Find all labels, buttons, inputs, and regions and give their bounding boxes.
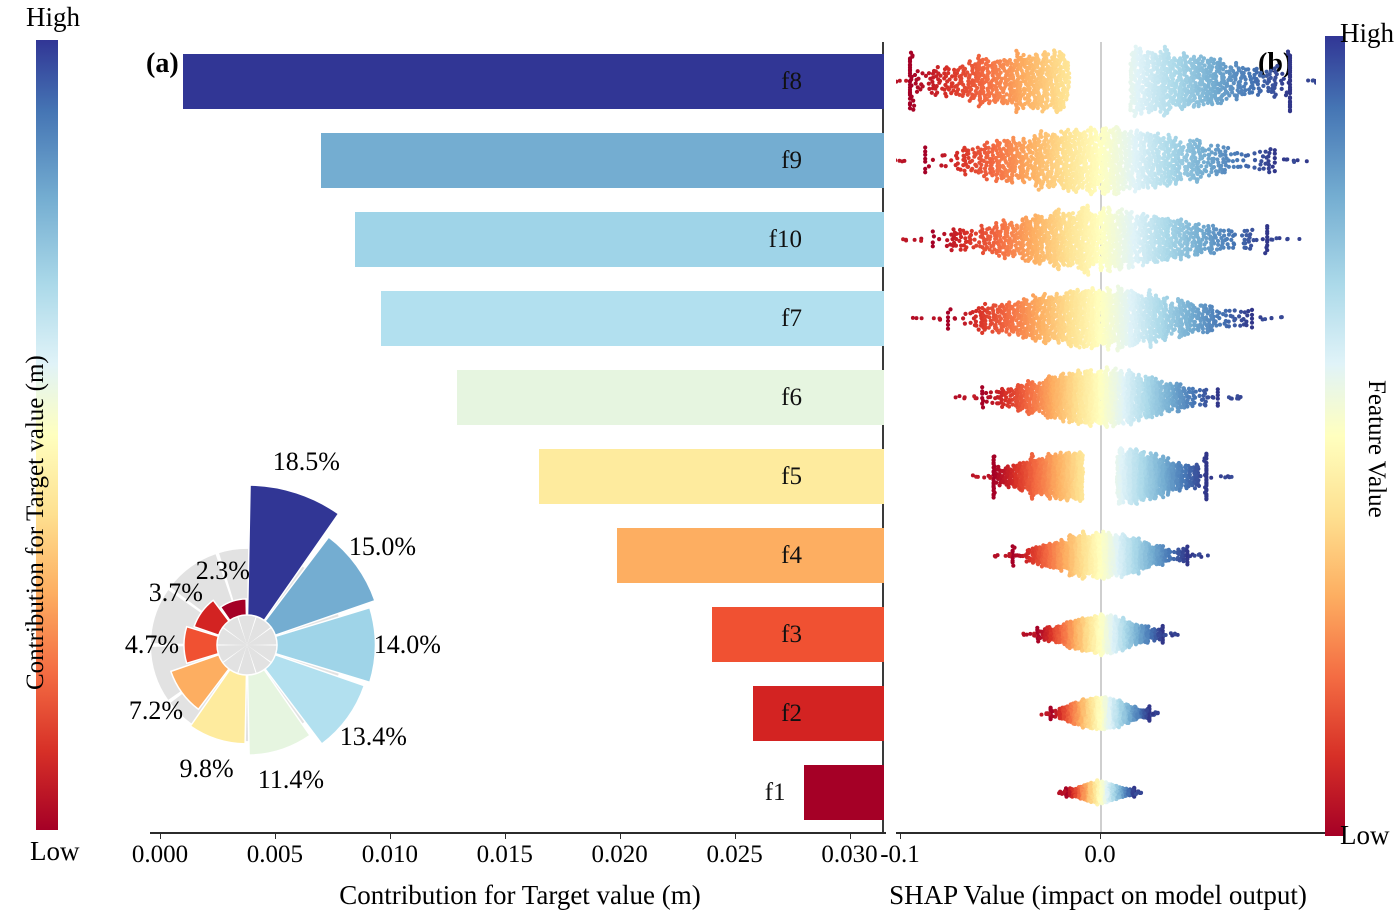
beeswarm-point	[1011, 254, 1015, 258]
beeswarm-point	[1244, 233, 1248, 237]
beeswarm-point	[933, 87, 937, 91]
beeswarm-point	[1180, 252, 1184, 256]
beeswarm-point	[1091, 190, 1095, 194]
beeswarm-point	[1272, 95, 1276, 99]
beeswarm-point	[997, 254, 1001, 258]
beeswarm-point	[1006, 78, 1010, 82]
bar-f9[interactable]: f9	[321, 133, 884, 188]
beeswarm-point	[1081, 186, 1085, 190]
beeswarm-point	[968, 241, 972, 245]
beeswarm-point	[1265, 156, 1269, 160]
beeswarm-point	[1128, 186, 1132, 190]
beeswarm-point	[985, 227, 989, 231]
beeswarm-row-f10[interactable]	[896, 200, 1316, 279]
beeswarm-point	[1266, 89, 1270, 93]
beeswarm-point	[959, 235, 963, 239]
left-colorbar-axis-title: Contribution for Target value (m)	[22, 355, 50, 690]
beeswarm-point	[1127, 266, 1131, 270]
beeswarm-point	[1028, 150, 1032, 154]
beeswarm-point	[1280, 72, 1284, 76]
beeswarm-point	[1207, 153, 1211, 157]
beeswarm-svg-f8	[896, 42, 1316, 121]
bar-f6[interactable]: f6	[457, 370, 885, 425]
beeswarm-point	[1018, 251, 1022, 255]
beeswarm-point	[963, 312, 967, 316]
beeswarm-point	[1261, 237, 1265, 241]
panel-a-tick-2	[620, 832, 621, 839]
beeswarm-point	[1210, 102, 1214, 106]
beeswarm-point	[1265, 81, 1269, 85]
beeswarm-point	[1252, 166, 1256, 170]
beeswarm-point	[911, 108, 915, 112]
beeswarm-outlier-point	[897, 159, 901, 163]
rose-label-f2: 3.7%	[149, 578, 203, 608]
bar-f8[interactable]: f8	[183, 54, 884, 109]
bar-f1[interactable]: f1	[804, 765, 884, 820]
beeswarm-point	[916, 69, 920, 73]
beeswarm-point	[1162, 113, 1166, 117]
beeswarm-point	[1169, 306, 1173, 310]
beeswarm-point	[1250, 313, 1254, 317]
rose-label-f3: 4.7%	[125, 630, 179, 660]
bar-label-f10: f10	[769, 226, 884, 254]
beeswarm-point	[1096, 182, 1100, 186]
beeswarm-point	[957, 239, 961, 243]
beeswarm-point	[1131, 265, 1135, 269]
beeswarm-point	[993, 61, 997, 65]
beeswarm-point	[1246, 153, 1250, 157]
bar-f7[interactable]: f7	[381, 291, 884, 346]
beeswarm-point	[1255, 70, 1259, 74]
beeswarm-point	[982, 241, 986, 245]
beeswarm-point	[1202, 242, 1206, 246]
panel-a-x-axis-title: Contribution for Target value (m)	[339, 880, 701, 911]
beeswarm-point	[1016, 176, 1020, 180]
beeswarm-outlier-point	[1275, 236, 1279, 240]
beeswarm-outlier-point	[1292, 160, 1296, 164]
beeswarm-point	[1139, 112, 1143, 116]
beeswarm-point	[981, 251, 985, 255]
beeswarm-point	[949, 158, 953, 162]
bar-label-f7: f7	[781, 305, 884, 333]
beeswarm-row-f7[interactable]	[896, 279, 1316, 358]
beeswarm-point	[931, 244, 935, 248]
beeswarm-point	[930, 91, 934, 95]
beeswarm-point	[1033, 261, 1037, 265]
beeswarm-point	[1203, 247, 1207, 251]
beeswarm-point	[966, 93, 970, 97]
beeswarm-point	[1245, 229, 1249, 233]
beeswarm-point	[1233, 233, 1237, 237]
figure-canvas: High Low Contribution for Target value (…	[0, 0, 1400, 919]
beeswarm-point	[1090, 151, 1094, 155]
rose-label-f8: 18.5%	[273, 447, 340, 477]
beeswarm-point	[979, 163, 983, 167]
beeswarm-point	[1059, 259, 1063, 263]
beeswarm-point	[927, 82, 931, 86]
beeswarm-point	[1179, 161, 1183, 165]
beeswarm-point	[1261, 84, 1265, 88]
beeswarm-point	[931, 240, 935, 244]
beeswarm-point	[987, 101, 991, 105]
beeswarm-point	[1187, 101, 1191, 105]
beeswarm-point	[1265, 74, 1269, 78]
beeswarm-point	[1174, 103, 1178, 107]
beeswarm-point	[1252, 86, 1256, 90]
panel-a-tick-6	[160, 832, 161, 839]
beeswarm-point	[964, 148, 968, 152]
beeswarm-point	[997, 159, 1001, 163]
beeswarm-point	[919, 82, 923, 86]
beeswarm-point	[1273, 161, 1277, 165]
beeswarm-outlier-point	[1306, 79, 1310, 83]
beeswarm-point	[1087, 264, 1091, 268]
beeswarm-point	[1244, 164, 1248, 168]
beeswarm-point	[1001, 101, 1005, 105]
beeswarm-point	[1021, 106, 1025, 110]
beeswarm-point	[1207, 157, 1211, 161]
beeswarm-point	[1040, 182, 1044, 186]
beeswarm-point	[962, 155, 966, 159]
beeswarm-point	[1112, 261, 1116, 265]
beeswarm-point	[1227, 246, 1231, 250]
panel-a-ticklabel-4: 0.010	[362, 841, 418, 869]
beeswarm-point	[923, 153, 927, 157]
beeswarm-point	[1231, 159, 1235, 163]
beeswarm-point	[1247, 240, 1251, 244]
beeswarm-point	[979, 235, 983, 239]
beeswarm-point	[1202, 160, 1206, 164]
beeswarm-point	[1223, 149, 1227, 153]
beeswarm-outlier-point	[904, 239, 908, 243]
beeswarm-point	[998, 234, 1002, 238]
beeswarm-point	[966, 165, 970, 169]
beeswarm-point	[1001, 90, 1005, 94]
beeswarm-point	[1037, 188, 1041, 192]
beeswarm-point	[1028, 177, 1032, 181]
beeswarm-point	[982, 174, 986, 178]
panel-a-ticklabel-3: 0.015	[477, 841, 533, 869]
beeswarm-point	[1023, 96, 1027, 100]
panel-a-tick-1	[735, 832, 736, 839]
beeswarm-point	[1223, 170, 1227, 174]
beeswarm-point	[1212, 165, 1216, 169]
beeswarm-point	[1167, 107, 1171, 111]
beeswarm-point	[1229, 238, 1233, 242]
beeswarm-point	[979, 148, 983, 152]
beeswarm-svg-f9	[896, 121, 1316, 200]
beeswarm-point	[996, 310, 1000, 314]
beeswarm-point	[993, 237, 997, 241]
beeswarm-point	[994, 173, 998, 177]
beeswarm-point	[1062, 263, 1066, 267]
left-colorbar-low-label: Low	[30, 838, 80, 865]
beeswarm-point	[1165, 258, 1169, 262]
beeswarm-point	[1243, 238, 1247, 242]
rose-label-f9: 15.0%	[349, 532, 416, 562]
bar-f5[interactable]: f5	[539, 449, 884, 504]
beeswarm-point	[1052, 264, 1056, 268]
beeswarm-point	[912, 104, 916, 108]
beeswarm-point	[1273, 169, 1277, 173]
beeswarm-point	[1227, 228, 1231, 232]
beeswarm-point	[1218, 247, 1222, 251]
beeswarm-point	[1000, 176, 1004, 180]
beeswarm-point	[962, 169, 966, 173]
beeswarm-point	[1155, 260, 1159, 264]
beeswarm-point	[1179, 177, 1183, 181]
beeswarm-point	[1243, 88, 1247, 92]
beeswarm-point	[1204, 236, 1208, 240]
beeswarm-point	[1133, 189, 1137, 193]
beeswarm-point	[1009, 245, 1013, 249]
beeswarm-point	[1261, 154, 1265, 158]
beeswarm-point	[1189, 227, 1193, 231]
rose-label-f1: 2.3%	[196, 556, 250, 586]
beeswarm-point	[940, 153, 944, 157]
beeswarm-point	[1235, 158, 1239, 162]
beeswarm-point	[991, 153, 995, 157]
beeswarm-point	[1204, 169, 1208, 173]
panel-a-tick-0	[850, 832, 851, 839]
beeswarm-point	[961, 94, 965, 98]
beeswarm-point	[1219, 101, 1223, 105]
panel-a-tick-5	[275, 832, 276, 839]
beeswarm-point	[1160, 146, 1164, 150]
beeswarm-point	[988, 167, 992, 171]
bar-f10[interactable]: f10	[355, 212, 884, 267]
beeswarm-point	[1233, 152, 1237, 156]
beeswarm-point	[1232, 81, 1236, 85]
beeswarm-point	[931, 229, 935, 233]
beeswarm-point	[1227, 233, 1231, 237]
beeswarm-point	[977, 240, 981, 244]
beeswarm-point	[1185, 149, 1189, 153]
beeswarm-point	[1256, 82, 1260, 86]
rose-label-f10: 14.0%	[374, 630, 441, 660]
beeswarm-point	[1224, 163, 1228, 167]
beeswarm-point	[1151, 183, 1155, 187]
beeswarm-outlier-point	[1285, 157, 1289, 161]
bar-label-f5: f5	[781, 463, 884, 491]
beeswarm-point	[1198, 243, 1202, 247]
rose-label-f6: 11.4%	[258, 765, 324, 795]
beeswarm-point	[1263, 251, 1267, 255]
beeswarm-point	[1252, 151, 1256, 155]
beeswarm-point	[1004, 143, 1008, 147]
beeswarm-point	[950, 237, 954, 241]
beeswarm-outlier-point	[898, 79, 902, 83]
beeswarm-point	[1209, 251, 1213, 255]
beeswarm-point	[1265, 231, 1269, 235]
beeswarm-point	[1074, 190, 1078, 194]
beeswarm-point	[1216, 144, 1220, 148]
beeswarm-point	[954, 163, 958, 167]
panel-a-ticklabel-0: 0.030	[821, 841, 877, 869]
beeswarm-outlier-point	[1297, 237, 1301, 241]
beeswarm-row-f8[interactable]	[896, 42, 1316, 121]
beeswarm-point	[1215, 172, 1219, 176]
beeswarm-point	[966, 152, 970, 156]
bar-label-f6: f6	[781, 384, 884, 412]
beeswarm-point	[1061, 186, 1065, 190]
beeswarm-point	[1174, 182, 1178, 186]
beeswarm-point	[974, 232, 978, 236]
bar-f2[interactable]: f2	[753, 686, 884, 741]
panel-b-beeswarm	[896, 42, 1316, 832]
beeswarm-point	[1231, 246, 1235, 250]
beeswarm-point	[973, 238, 977, 242]
beeswarm-point	[1003, 256, 1007, 260]
beeswarm-point	[1262, 167, 1266, 171]
beeswarm-point	[949, 91, 953, 95]
beeswarm-point	[1134, 258, 1138, 262]
beeswarm-point	[1197, 222, 1201, 226]
beeswarm-row-f9[interactable]	[896, 121, 1316, 200]
beeswarm-point	[1086, 273, 1090, 277]
beeswarm-point	[1263, 162, 1267, 166]
beeswarm-point	[1221, 160, 1225, 164]
beeswarm-point	[1214, 148, 1218, 152]
beeswarm-point	[1066, 189, 1070, 193]
beeswarm-point	[970, 229, 974, 233]
panel-a-tick-4	[390, 832, 391, 839]
beeswarm-point	[1221, 239, 1225, 243]
beeswarm-point	[918, 87, 922, 91]
beeswarm-point	[1119, 185, 1123, 189]
beeswarm-point	[1216, 239, 1220, 243]
beeswarm-point	[1268, 147, 1272, 151]
bar-f4[interactable]: f4	[617, 528, 884, 583]
beeswarm-point	[1206, 101, 1210, 105]
beeswarm-point	[1188, 177, 1192, 181]
panel-a-ticklabel-5: 0.005	[247, 841, 303, 869]
beeswarm-point	[1273, 156, 1277, 160]
beeswarm-point	[983, 302, 987, 306]
beeswarm-point	[1179, 257, 1183, 261]
beeswarm-point	[1214, 227, 1218, 231]
beeswarm-point	[1196, 172, 1200, 176]
beeswarm-point	[1187, 254, 1191, 258]
beeswarm-point	[990, 250, 994, 254]
bar-label-f2: f2	[781, 700, 884, 728]
panel-a-ticklabel-1: 0.025	[706, 841, 762, 869]
beeswarm-point	[1240, 152, 1244, 156]
bar-label-f9: f9	[781, 147, 884, 175]
beeswarm-point	[963, 236, 967, 240]
beeswarm-outlier-point	[1311, 79, 1315, 83]
beeswarm-outlier-point	[1296, 158, 1300, 162]
beeswarm-point	[1209, 144, 1213, 148]
beeswarm-point	[985, 177, 989, 181]
beeswarm-point	[1224, 97, 1228, 101]
bar-f3[interactable]: f3	[712, 607, 884, 662]
beeswarm-point	[979, 154, 983, 158]
beeswarm-point	[1040, 109, 1044, 113]
beeswarm-point	[1258, 150, 1262, 154]
beeswarm-point	[1273, 66, 1277, 70]
rose-label-f5: 9.8%	[179, 754, 233, 784]
beeswarm-point	[1055, 110, 1059, 114]
beeswarm-point	[1152, 178, 1156, 182]
beeswarm-point	[950, 248, 954, 252]
beeswarm-point	[995, 226, 999, 230]
beeswarm-point	[983, 247, 987, 251]
beeswarm-point	[1271, 165, 1275, 169]
beeswarm-point	[1064, 97, 1068, 101]
beeswarm-point	[1213, 152, 1217, 156]
panel-a-ticklabel-6: 0.000	[132, 841, 188, 869]
beeswarm-svg-f7	[896, 279, 1316, 358]
beeswarm-point	[1068, 185, 1072, 189]
beeswarm-point	[1147, 110, 1151, 114]
beeswarm-point	[961, 316, 965, 320]
beeswarm-point	[1007, 300, 1011, 304]
panel-a-axis-line	[150, 832, 886, 834]
beeswarm-point	[1280, 87, 1284, 91]
beeswarm-point	[1187, 237, 1191, 241]
beeswarm-point	[1066, 263, 1070, 267]
beeswarm-outlier-point	[1269, 238, 1273, 242]
bar-label-f1: f1	[765, 779, 786, 807]
beeswarm-point	[915, 90, 919, 94]
beeswarm-point	[945, 238, 949, 242]
beeswarm-point	[1122, 259, 1126, 263]
beeswarm-point	[1231, 87, 1235, 91]
beeswarm-point	[943, 67, 947, 71]
beeswarm-point	[974, 309, 978, 313]
beeswarm-point	[948, 242, 952, 246]
beeswarm-point	[1242, 241, 1246, 245]
beeswarm-point	[938, 79, 942, 83]
beeswarm-point	[927, 87, 931, 91]
beeswarm-point	[944, 94, 948, 98]
beeswarm-point	[979, 170, 983, 174]
beeswarm-point	[992, 98, 996, 102]
beeswarm-point	[1244, 68, 1248, 72]
beeswarm-point	[944, 164, 948, 168]
bar-label-f3: f3	[781, 621, 884, 649]
beeswarm-point	[1158, 182, 1162, 186]
beeswarm-point	[966, 82, 970, 86]
beeswarm-point	[978, 244, 982, 248]
left-colorbar-high-label: High	[26, 4, 80, 31]
beeswarm-point	[1207, 173, 1211, 177]
beeswarm-point	[1005, 101, 1009, 105]
beeswarm-point	[1182, 104, 1186, 108]
beeswarm-point	[1193, 252, 1197, 256]
beeswarm-point	[955, 151, 959, 155]
beeswarm-point	[1051, 184, 1055, 188]
beeswarm-point	[959, 244, 963, 248]
beeswarm-point	[931, 158, 935, 162]
beeswarm-point	[1235, 97, 1239, 101]
beeswarm-point	[991, 143, 995, 147]
beeswarm-point	[947, 67, 951, 71]
beeswarm-point	[1183, 171, 1187, 175]
beeswarm-outlier-point	[913, 238, 917, 242]
beeswarm-point	[1258, 162, 1262, 166]
beeswarm-point	[928, 77, 932, 81]
beeswarm-point	[972, 155, 976, 159]
beeswarm-point	[1056, 151, 1060, 155]
beeswarm-point	[1023, 102, 1027, 106]
beeswarm-point	[1018, 143, 1022, 147]
beeswarm-point	[936, 65, 940, 69]
beeswarm-point	[1010, 100, 1014, 104]
beeswarm-point	[1031, 106, 1035, 110]
beeswarm-point	[1224, 309, 1228, 313]
